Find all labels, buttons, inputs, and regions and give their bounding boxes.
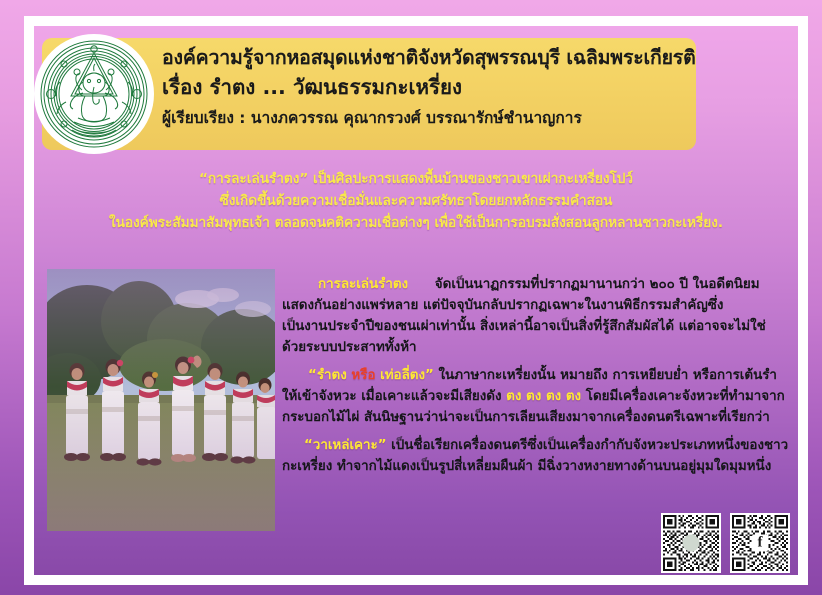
- body-p2-line3: กระบอกไม้ไผ่ สันนิษฐานว่าน่าจะเป็นการเลี…: [282, 407, 792, 428]
- term-ramtong: รำตง: [317, 368, 347, 383]
- body-p3-line1-rest: เป็นชื่อเรียกเครื่องดนตรีซึ่งเป็นเครื่อง…: [387, 438, 789, 453]
- intro-block: “การละเล่นรำตง” เป็นศิลปะการแสดงพื้นบ้าน…: [34, 168, 798, 234]
- poster-content: องค์ความรู้จากหอสมุดแห่งชาติจังหวัดสุพรร…: [34, 26, 798, 575]
- header-line-2: เรื่อง รำตง ... วัฒนธรรมกะเหรี่ยง: [162, 74, 682, 102]
- facebook-logo-icon: f: [752, 535, 769, 552]
- body-paragraph-1: การละเล่นรำตง จัดเป็นนาฏกรรมที่ปรากฏมานา…: [282, 274, 792, 358]
- term-conjunction: หรือ: [347, 368, 380, 383]
- intro-line-3: ในองค์พระสัมมาสัมพุทธเจ้า ตลอดจนคติความเ…: [34, 212, 798, 234]
- paragraph-gap-1: [282, 358, 792, 365]
- body-p1-line4: ด้วยระบบประสาททั้งห้า: [282, 337, 792, 358]
- body-paragraph-2: “รำตง หรือ เท่อลี่ตง” ในภาษากะเหรี่ยงนั้…: [282, 365, 792, 428]
- header-text-block: องค์ความรู้จากหอสมุดแห่งชาติจังหวัดสุพรร…: [162, 46, 682, 128]
- body-p1-line2: แสดงกันอย่างแพร่หลาย แต่ปัจจุบันกลับปราก…: [282, 295, 792, 316]
- term-walaekho: “วาเหล่เคาะ”: [304, 438, 387, 453]
- term-thoelitong: เท่อลี่ตง: [380, 368, 425, 383]
- intro-line-2: ซึ่งเกิดขึ้นด้วยความเชื่อมั่นและความศรัท…: [34, 190, 798, 212]
- poster-root: องค์ความรู้จากหอสมุดแห่งชาติจังหวัดสุพรร…: [0, 0, 822, 595]
- body-p2-line2-after: โดยมีเครื่องเคาะจังหวะที่ทำมาจาก: [581, 389, 785, 404]
- intro-line-1: “การละเล่นรำตง” เป็นศิลปะการแสดงพื้นบ้าน…: [34, 168, 798, 190]
- body-p2-line1-rest: ในภาษากะเหรี่ยงนั้น หมายถึง การเหยียบย่ำ…: [434, 368, 777, 383]
- header-line-1: องค์ความรู้จากหอสมุดแห่งชาติจังหวัดสุพรร…: [162, 46, 682, 71]
- paragraph-gap-2: [282, 428, 792, 435]
- header-line-3: ผู้เรียบเรียง : นางภควรรณ คุณากรวงศ์ บรร…: [162, 108, 682, 128]
- onomatopoeia-tong: ตง ตง ตง ตง: [506, 389, 581, 404]
- body-text-column: การละเล่นรำตง จัดเป็นนาฏกรรมที่ปรากฏมานา…: [282, 274, 792, 477]
- facebook-qr-code[interactable]: f: [730, 513, 790, 573]
- body-p1-line1-rest: จัดเป็นนาฏกรรมที่ปรากฏมานานกว่า ๒๐๐ ปี ใ…: [435, 277, 760, 292]
- header-banner: องค์ความรู้จากหอสมุดแห่งชาติจังหวัดสุพรร…: [42, 38, 696, 150]
- quote-close-1: ”: [425, 368, 434, 383]
- body-p3-line2: กะเหรี่ยง ทำจากไม้แดงเป็นรูปสี่เหลี่ยมผื…: [282, 456, 792, 477]
- karen-dancers-photo: [47, 269, 275, 531]
- quote-open-1: “: [308, 368, 317, 383]
- body-paragraph-3: “วาเหล่เคาะ” เป็นชื่อเรียกเครื่องดนตรีซึ…: [282, 435, 792, 477]
- line-logo-icon: [683, 535, 700, 552]
- body-lead-term: การละเล่นรำตง: [318, 277, 408, 292]
- facebook-f-glyph: f: [758, 536, 763, 551]
- qr-code-group: f: [661, 513, 790, 573]
- ganesha-seal-icon: [34, 34, 154, 154]
- body-p2-line2-before: ให้เข้าจังหวะ เมื่อเคาะแล้วจะมีเสียงดัง: [282, 389, 506, 404]
- line-qr-code[interactable]: [661, 513, 721, 573]
- body-p1-line3: เป็นงานประจำปีของชนเผ่าเท่านั้น สิ่งเหล่…: [282, 316, 792, 337]
